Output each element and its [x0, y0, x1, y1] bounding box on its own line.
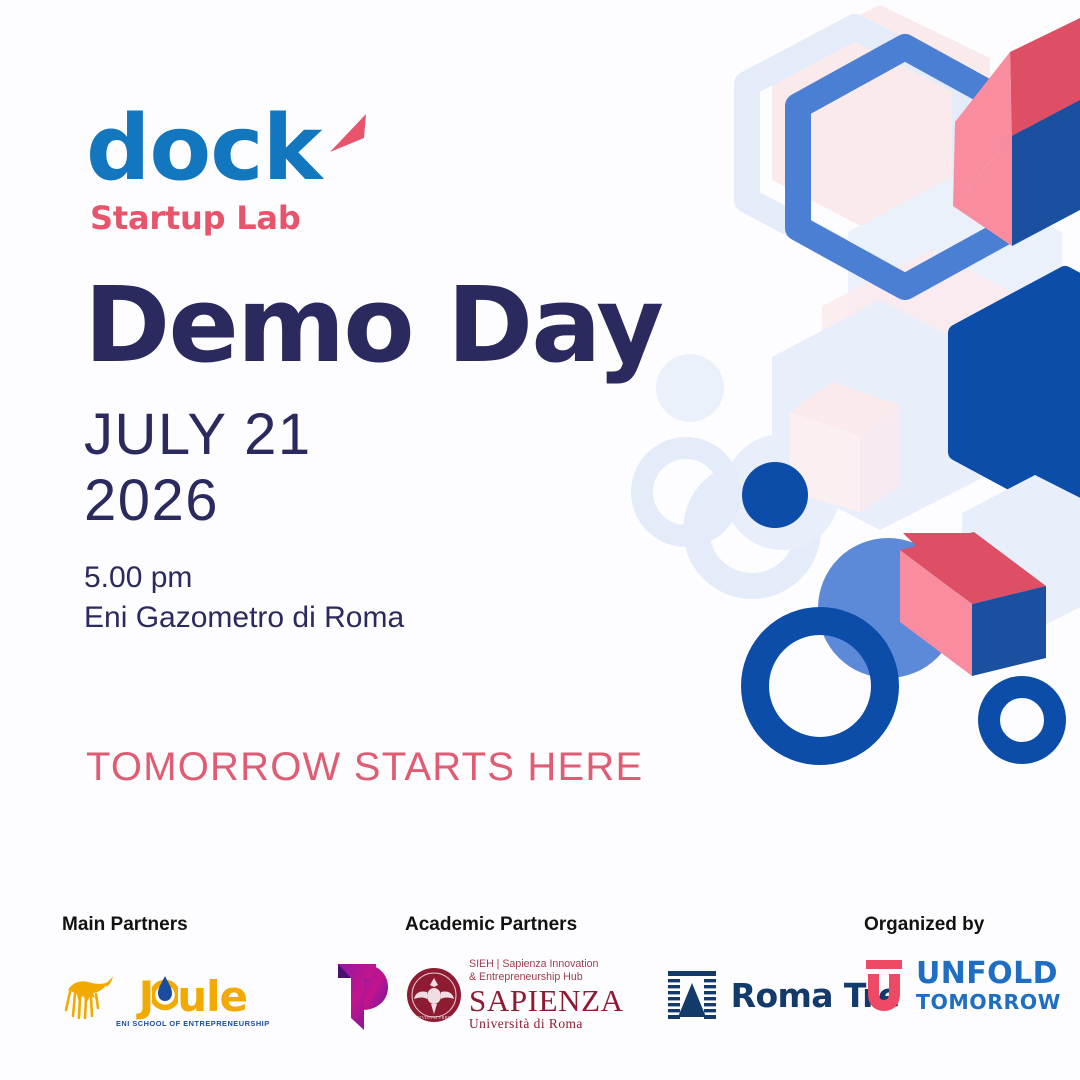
sapienza-hub-line-1: SIEH | Sapienza Innovation — [469, 958, 624, 971]
headline-block: Demo Day JULY 21 2026 5.00 pm Eni Gazome… — [84, 272, 784, 637]
dock-logo: dock Startup Lab — [86, 104, 386, 244]
sapienza-logo: STVDIVM VRBIS SIEH | Sapienza Innovation… — [405, 958, 624, 1032]
unfold-u-mark-icon — [864, 958, 908, 1014]
joule-logo: J ule ENI SCHOOL OF ENTREPRENEURSHIP — [62, 971, 270, 1028]
sapienza-wordmark: SAPIENZA — [469, 985, 624, 1017]
tp-logo — [332, 958, 390, 1041]
joule-wordmark-ule: ule — [177, 977, 247, 1017]
sapienza-crest-icon: STVDIVM VRBIS — [405, 966, 463, 1024]
partners-footer: Main Partners J — [0, 900, 1080, 1060]
event-date-day: JULY 21 — [84, 402, 784, 468]
ring-deep-blue-small — [989, 687, 1055, 753]
partner-logo-row: UNFOLD TOMORROW — [864, 958, 1061, 1014]
event-date-year: 2026 — [84, 468, 784, 534]
joule-flame-o-icon — [152, 971, 178, 1011]
tomorrow-wordmark: TOMORROW — [916, 992, 1061, 1013]
tp-monogram-icon — [332, 958, 390, 1036]
eni-six-legged-dog-icon — [62, 976, 114, 1022]
roma-tre-striped-square-icon — [666, 969, 718, 1021]
partner-group-label: Organized by — [864, 914, 1061, 936]
unfold-tomorrow-logo: UNFOLD TOMORROW — [864, 958, 1061, 1014]
event-tagline: TOMORROW STARTS HERE — [86, 745, 643, 790]
event-time: 5.00 pm — [84, 558, 784, 598]
rocket-flag-icon — [326, 112, 370, 160]
svg-text:STVDIVM VRBIS: STVDIVM VRBIS — [416, 1015, 452, 1020]
dock-tagline: Startup Lab — [90, 202, 301, 234]
dock-wordmark: dock — [86, 104, 321, 194]
page-title: Demo Day — [84, 272, 784, 378]
unfold-wordmark: UNFOLD — [916, 959, 1061, 989]
poster-canvas: dock Startup Lab Demo Day JULY 21 2026 5… — [0, 0, 1080, 1080]
ring-deep-blue-large — [755, 621, 885, 751]
partner-logo-row: J ule ENI SCHOOL OF ENTREPRENEURSHIP — [62, 958, 390, 1041]
partner-group-organizer: Organized by UNFOLD TOMORROW — [864, 914, 1061, 1014]
partner-group-academic: Academic Partners STVDIVM VRBIS — [405, 914, 900, 1032]
event-venue: Eni Gazometro di Roma — [84, 598, 784, 638]
sapienza-subline: Università di Roma — [469, 1017, 624, 1032]
joule-subline: ENI SCHOOL OF ENTREPRENEURSHIP — [116, 1019, 270, 1028]
partner-group-label: Main Partners — [62, 914, 390, 936]
partner-group-main: Main Partners J — [62, 914, 390, 1041]
partner-logo-row: STVDIVM VRBIS SIEH | Sapienza Innovation… — [405, 958, 900, 1032]
joule-wordmark-j: J — [139, 977, 154, 1017]
partner-group-label: Academic Partners — [405, 914, 900, 936]
sapienza-hub-line-2: & Entrepreneurship Hub — [469, 971, 624, 984]
